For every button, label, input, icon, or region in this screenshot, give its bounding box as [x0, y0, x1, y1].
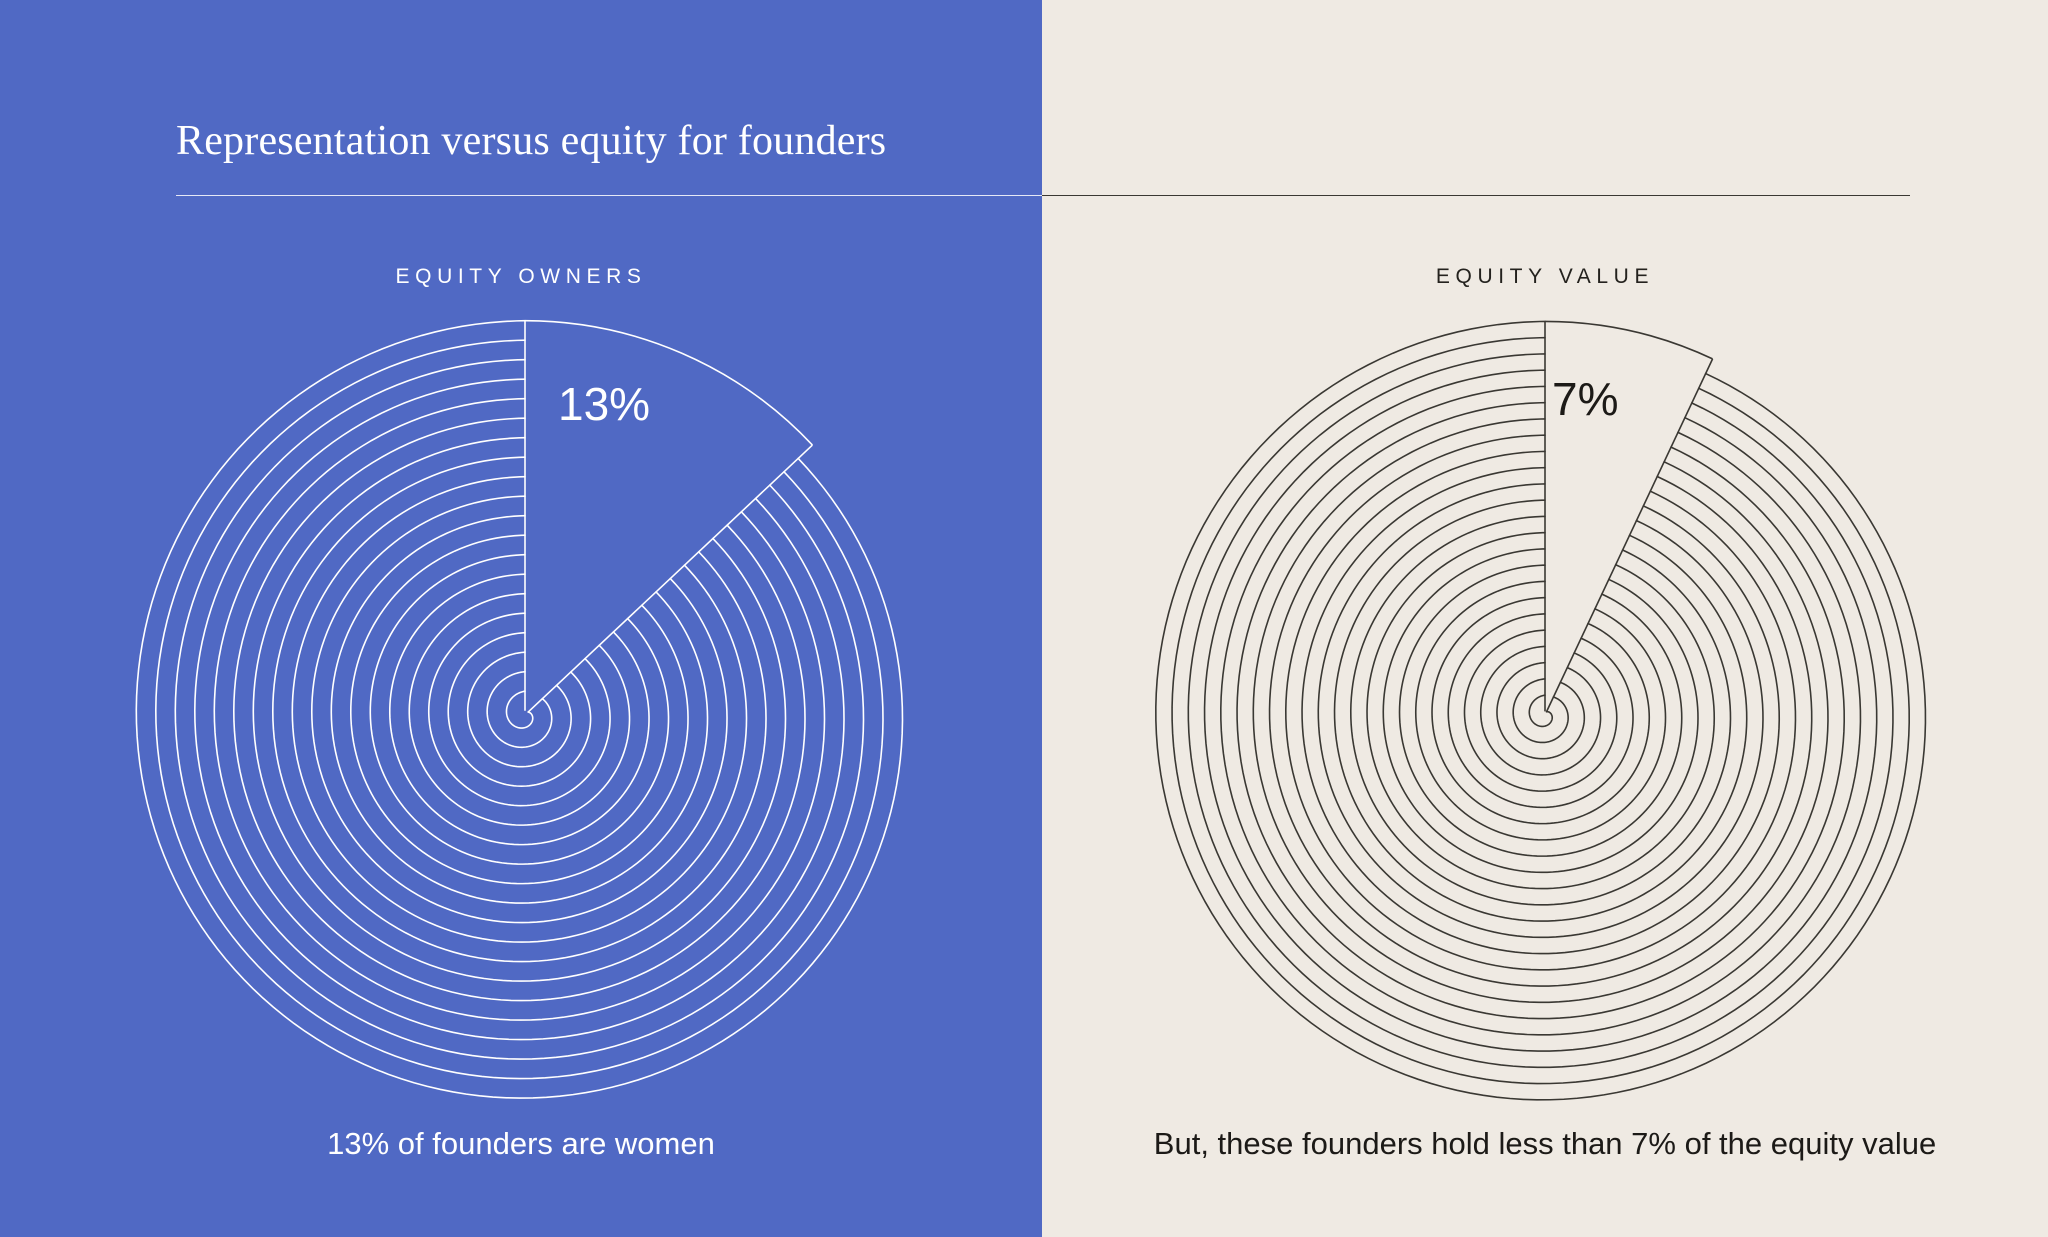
- spiral-ring: [506, 691, 532, 728]
- spiral-ring: [234, 418, 805, 1000]
- spiral-ring: [1497, 663, 1584, 759]
- spiral-ring: [1318, 484, 1763, 937]
- spiral-ring: [1172, 338, 1909, 1084]
- title-rule-right: [1042, 195, 1910, 196]
- spiral-rings: [136, 321, 902, 1098]
- spiral-ring: [1286, 451, 1796, 969]
- spiral-ring: [1237, 403, 1844, 1019]
- spiral-ring: [370, 555, 668, 864]
- wedge-percent-label-equity-owners: 13%: [558, 377, 650, 431]
- spiral-ring: [409, 594, 629, 825]
- spiral-ring: [1367, 533, 1714, 889]
- wedge-edge-end: [528, 445, 812, 712]
- spiral-chart-equity-value-svg: [1150, 320, 1940, 1110]
- spiral-ring: [1335, 500, 1747, 921]
- section-label-equity-value: EQUITY VALUE: [1042, 265, 2048, 289]
- spiral-ring: [1481, 646, 1601, 774]
- spiral-ring: [468, 652, 571, 766]
- spiral-ring: [175, 360, 863, 1059]
- spiral-ring: [1400, 565, 1682, 856]
- spiral-chart-equity-owners-svg: [130, 320, 920, 1110]
- infographic-canvas: Representation versus equity for founder…: [0, 0, 2048, 1237]
- spiral-ring: [1188, 354, 1893, 1067]
- section-label-equity-owners: EQUITY OWNERS: [0, 265, 1042, 289]
- spiral-ring: [156, 340, 883, 1078]
- spiral-ring: [1156, 321, 1926, 1099]
- spiral-ring: [1416, 581, 1666, 839]
- spiral-ring: [1529, 695, 1552, 726]
- wedge-percent-label-equity-value: 7%: [1552, 372, 1618, 426]
- spiral-ring: [1302, 468, 1779, 954]
- spiral-ring: [253, 438, 785, 981]
- spiral-ring: [448, 633, 590, 786]
- spiral-ring: [429, 613, 610, 805]
- page-title: Representation versus equity for founder…: [176, 117, 886, 165]
- wedge-outer-arc: [1545, 321, 1713, 358]
- spiral-ring: [351, 535, 688, 883]
- spiral-ring: [312, 496, 727, 922]
- spiral-ring: [273, 457, 766, 961]
- caption-equity-owners: 13% of founders are women: [60, 1122, 982, 1166]
- spiral-ring: [1253, 419, 1828, 1002]
- spiral-ring: [1448, 614, 1633, 807]
- spiral-ring: [214, 399, 824, 1020]
- spiral-rings: [1156, 321, 1926, 1099]
- spiral-ring: [1351, 516, 1731, 904]
- spiral-chart-equity-value: [1150, 320, 1940, 1110]
- spiral-ring: [1465, 630, 1617, 791]
- spiral-ring: [292, 477, 746, 942]
- spiral-ring: [1205, 370, 1877, 1051]
- title-rule-left: [176, 195, 1042, 196]
- spiral-chart-equity-owners: [130, 320, 920, 1110]
- caption-equity-value: But, these founders hold less than 7% of…: [1112, 1122, 1978, 1166]
- spiral-ring: [487, 672, 552, 748]
- spiral-ring: [1513, 679, 1568, 743]
